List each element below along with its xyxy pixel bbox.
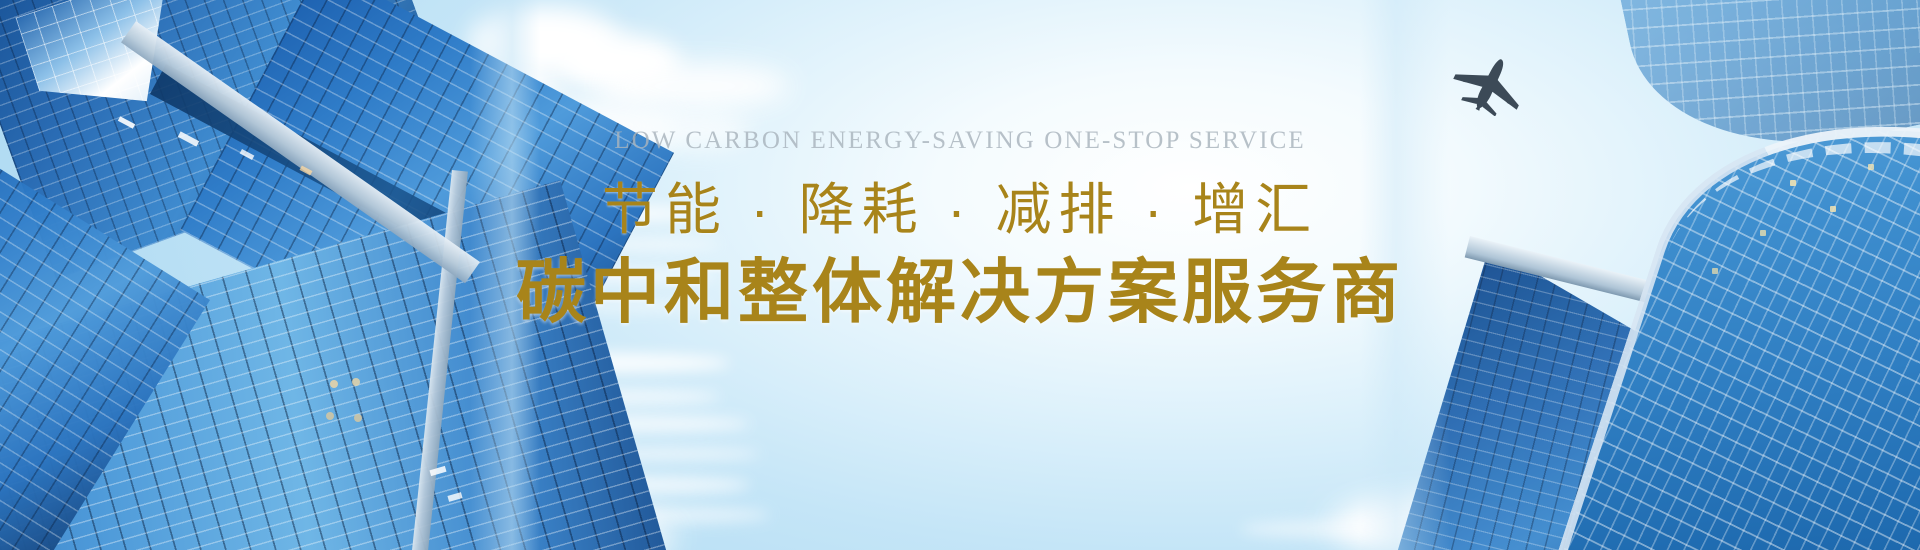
window-highlight bbox=[330, 380, 338, 388]
window-highlight bbox=[1712, 268, 1718, 274]
window-highlight bbox=[1830, 206, 1836, 212]
window-highlight bbox=[1760, 230, 1766, 236]
window-highlight bbox=[352, 378, 360, 386]
window-highlight bbox=[326, 412, 334, 420]
window-highlight bbox=[1868, 164, 1874, 170]
cloud-icon bbox=[600, 62, 790, 110]
airplane-icon bbox=[1448, 52, 1532, 116]
hero-eyebrow-text: LOW CARBON ENERGY-SAVING ONE-STOP SERVIC… bbox=[614, 128, 1306, 153]
hero-banner: LOW CARBON ENERGY-SAVING ONE-STOP SERVIC… bbox=[0, 0, 1920, 550]
window-highlight bbox=[1790, 180, 1796, 186]
hero-headline: 碳中和整体解决方案服务商 bbox=[516, 255, 1404, 329]
hero-subtitle: 节能 · 降耗 · 减排 · 增汇 bbox=[602, 180, 1318, 239]
cloud-icon bbox=[560, 34, 680, 92]
window-highlight bbox=[354, 414, 362, 422]
